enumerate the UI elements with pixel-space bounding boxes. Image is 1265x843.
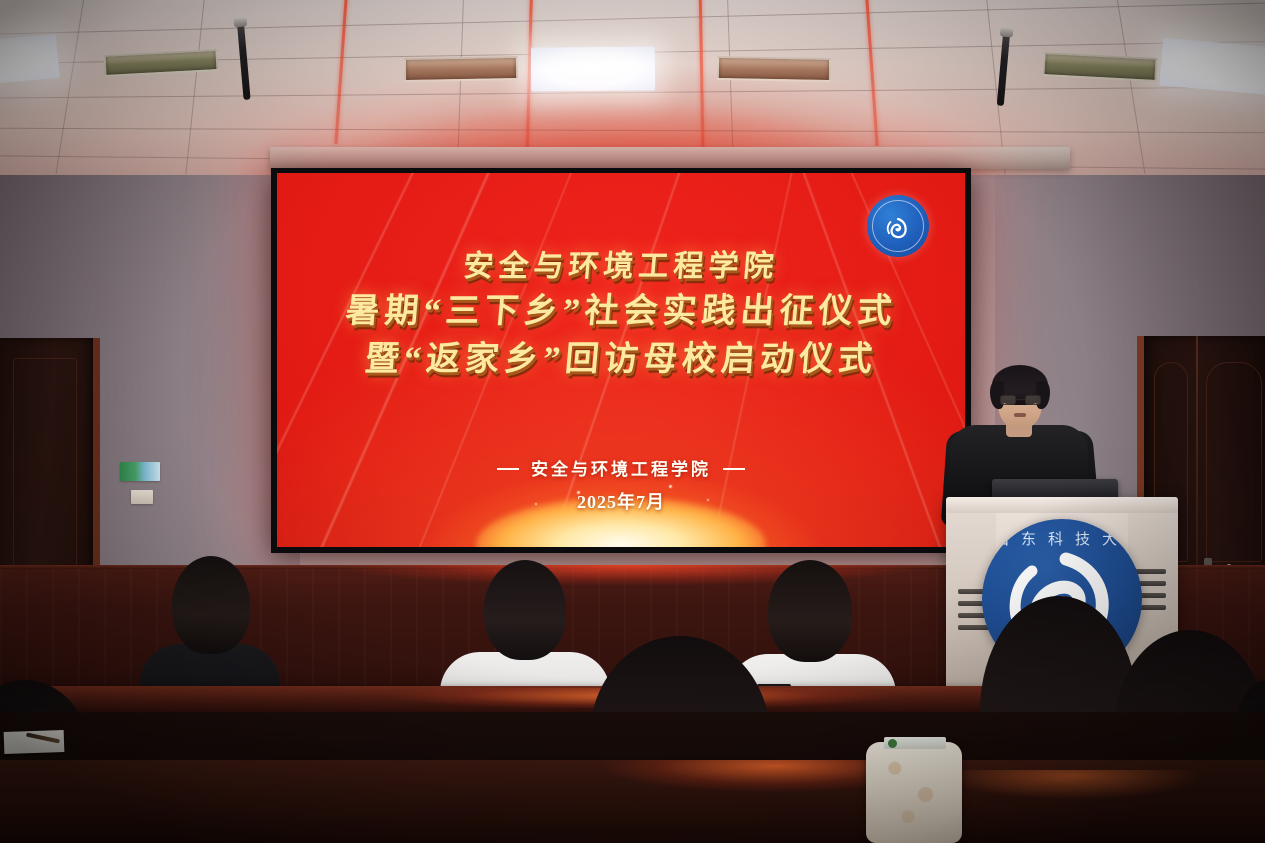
dash-right-icon: [723, 468, 745, 470]
podium-top-surface: [946, 497, 1178, 513]
banner-org-line: 安全与环境工程学院: [277, 455, 965, 480]
banner-subtitle-block: 安全与环境工程学院 2025年7月: [277, 455, 965, 514]
handbag-green-charm: [888, 739, 897, 748]
ceiling-light-2: [531, 46, 655, 91]
speaker-mouth: [1014, 413, 1026, 417]
ceiling-soffit: [270, 147, 1070, 169]
banner-date: 2025年7月: [277, 488, 965, 514]
wall-sign-plaque: [131, 490, 153, 504]
wall-sign-color: [120, 462, 160, 481]
led-display-screen: 安全与环境工程学院 暑期“三下乡”社会实践出征仪式 暨“返家乡”回访母校启动仪式…: [271, 168, 971, 553]
banner-title-block: 安全与环境工程学院 暑期“三下乡”社会实践出征仪式 暨“返家乡”回访母校启动仪式: [277, 247, 965, 382]
banner-title-line-3: 暨“返家乡”回访母校启动仪式: [301, 338, 941, 382]
ceiling-vent-1: [104, 49, 219, 77]
led-content: 安全与环境工程学院 暑期“三下乡”社会实践出征仪式 暨“返家乡”回访母校启动仪式…: [277, 173, 965, 547]
banner-title-line-2: 暑期“三下乡”社会实践出征仪式: [301, 290, 941, 334]
ceiling-light-3: [1159, 38, 1265, 99]
dash-left-icon: [497, 468, 519, 470]
banner-title-line-1: 安全与环境工程学院: [301, 247, 940, 286]
audience-member-2-head: [484, 560, 566, 660]
banner-org-text: 安全与环境工程学院: [531, 460, 711, 479]
ceiling-vent-2: [404, 56, 518, 82]
speaker-glasses-icon: [1000, 395, 1041, 405]
emblem-bird-glyph: [883, 215, 913, 241]
audience-member-1-head: [172, 556, 250, 654]
ceiling-light-1: [0, 34, 60, 90]
handbag: [866, 742, 962, 843]
ceiling-vent-3: [717, 56, 831, 82]
ceremony-photo: 安全与环境工程学院 暑期“三下乡”社会实践出征仪式 暨“返家乡”回访母校启动仪式…: [0, 0, 1265, 843]
ceiling-vent-4: [1042, 52, 1157, 82]
desk-reflection-glow-right: [940, 770, 1265, 830]
